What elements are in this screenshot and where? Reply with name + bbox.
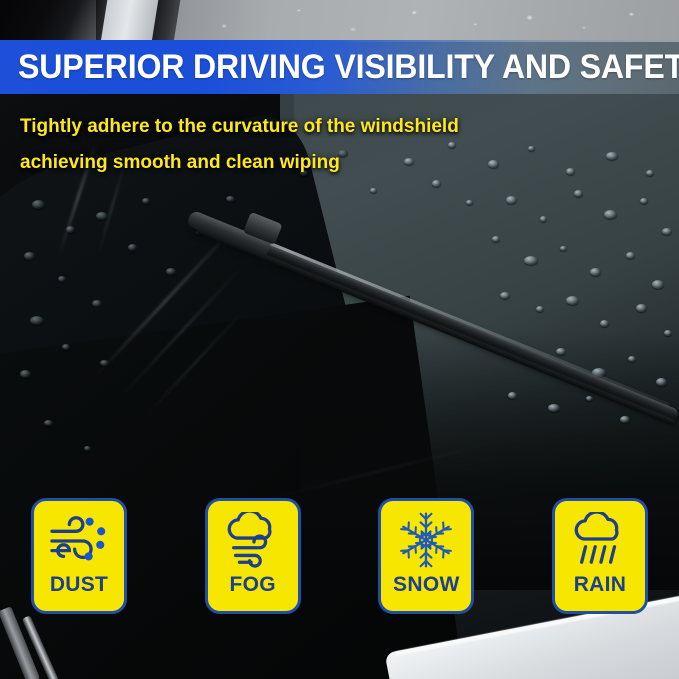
badge-fog[interactable]: FOG bbox=[205, 498, 301, 614]
wiper-arm-top bbox=[101, 0, 160, 42]
product-feature-image: SUPERIOR DRIVING VISIBILITY AND SAFETY T… bbox=[0, 0, 679, 679]
badge-label-fog: FOG bbox=[229, 574, 275, 595]
cloud-rain-icon bbox=[569, 510, 631, 570]
wiper-blade-rubber bbox=[196, 227, 676, 425]
badge-rain[interactable]: RAIN bbox=[552, 498, 648, 614]
subtitle-line-1: Tightly adhere to the curvature of the w… bbox=[20, 116, 459, 138]
badge-snow[interactable]: SNOW bbox=[378, 498, 474, 614]
badge-dust[interactable]: DUST bbox=[31, 498, 127, 614]
wiper-blade bbox=[175, 185, 679, 475]
cloud-fog-icon bbox=[222, 510, 284, 570]
badge-label-snow: SNOW bbox=[393, 574, 460, 595]
wind-dust-icon bbox=[48, 510, 110, 570]
title-banner: SUPERIOR DRIVING VISIBILITY AND SAFETY bbox=[0, 40, 679, 94]
banner-title: SUPERIOR DRIVING VISIBILITY AND SAFETY bbox=[18, 50, 679, 84]
subtitle-line-2: achieving smooth and clean wiping bbox=[20, 152, 340, 174]
feature-badge-row: DUST FOG bbox=[31, 498, 648, 614]
badge-label-dust: DUST bbox=[50, 574, 108, 595]
snowflake-icon bbox=[395, 510, 457, 570]
badge-label-rain: RAIN bbox=[574, 574, 627, 595]
dark-pillar bbox=[0, 0, 96, 42]
